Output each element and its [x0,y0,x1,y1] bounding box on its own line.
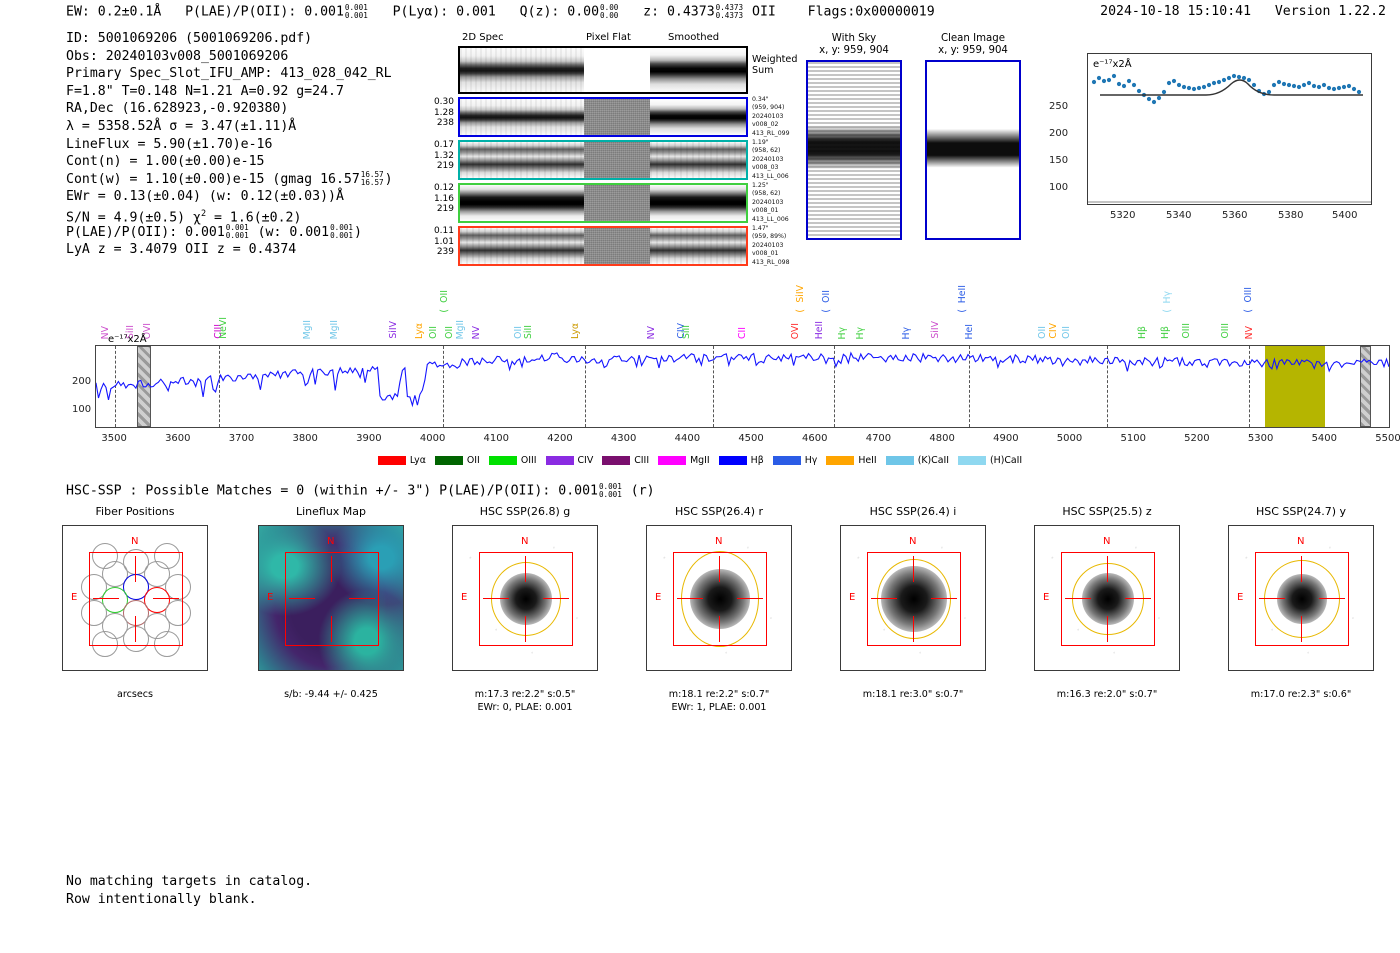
crosshair-left-2 [483,598,509,599]
info-lambda-sigma: λ = 5358.52Å σ = 3.47(±1.11)Å [66,118,393,136]
main-spectrum-trace [96,346,1389,427]
compass-east-0: E [71,592,77,603]
compass-north-5: N [1103,536,1110,547]
info-cont-w: Cont(w) = 1.10(±0.00)e-15 (gmag 16.5716.… [66,171,393,189]
compass-north-3: N [715,536,722,547]
info-radec: RA,Dec (16.628923,-0.920380) [66,100,393,118]
line-label-oii-24: OII [822,290,831,303]
crosshair-bottom-0 [135,616,136,642]
legend-item-oiii: OIII [489,455,537,466]
legend-item-kcaii: (K)CaII [886,455,949,466]
header-plae-poii: P(LAE)/P(OII): 0.001 [185,5,344,20]
header-summary-line: EW: 0.2±0.1Å P(LAE)/P(OII): 0.0010.0010.… [66,4,935,20]
spec2d-row-3-note: 1.25"(958, 62) 20240103v008_01 413_LL_00… [752,182,789,224]
header-qz: Q(z): 0.00 [520,5,599,20]
cutout-caption-6: m:17.0 re:2.3" s:0.6" [1208,689,1394,702]
info-plae-w-errors: 0.0010.001 [330,224,353,239]
cutout-panel-4[interactable]: HSC SSP(26.4) iNE420-2-4-4-2024m:18.1 re… [820,505,1006,702]
main-xtick-3700: 3700 [229,433,254,444]
main-xtick-4900: 4900 [993,433,1018,444]
legend-item-h: Hγ [773,455,818,466]
cutout-caption-1: s/b: -9.44 +/- 0.425 [238,689,424,702]
main-xtick-3500: 3500 [101,433,126,444]
zoom-spectrum-svg [1088,54,1371,204]
info-sn-chi2: S/N = 4.9(±0.5) χ2 = 1.6(±0.2) [66,206,393,224]
legend-label-8: HeII [858,455,876,466]
legend-label-4: CIII [634,455,649,466]
crosshair-left-4 [871,598,897,599]
legend-label-9: (K)CaII [918,455,949,466]
zoom-xtick-5360: 5360 [1222,210,1247,221]
main-xtick-4800: 4800 [929,433,954,444]
header-qz-errors: 0.000.00 [600,4,618,19]
line-label-oiii-38: OIII [1221,323,1230,339]
line-label-mgii-6: MgII [330,320,339,339]
header-z: z: 0.4373 [643,5,714,20]
crosshair-left-0 [93,598,119,599]
spec2d-row-1-note: 0.34"(959, 904) 20240103v008_02 413_RL_0… [752,96,790,138]
main-units-label: e⁻¹⁷x2Å [108,334,147,345]
with-sky-image [808,62,900,238]
spec2d-row-3-values: 0.12 1.16 219 [410,183,454,215]
line-label-civ-32: CIV [1049,323,1058,339]
header-plya: P(Lyα): 0.001 [393,5,496,20]
cutout-panel-0[interactable]: Fiber PositionsNE420-2-4-4-2024arcsecs [42,505,228,702]
cutout-panel-1[interactable]: Lineflux MapNE420-2-4-4-2024s/b: -9.44 +… [238,505,424,702]
spec2d-col-title-pixelflat: Pixel Flat [586,32,631,43]
main-ytick-100: 100 [72,404,91,415]
clean-image-coords: x, y: 959, 904 [925,45,1021,57]
legend-swatch-8 [826,456,854,465]
spec2d-row-2-note: 1.19"(958, 62) 20240103v008_03 413_LL_00… [752,139,789,181]
legend-label-2: OIII [521,455,537,466]
compass-east-6: E [1237,592,1243,603]
cutout-axes-4[interactable]: NE420-2-4-4-2024 [840,525,986,671]
cutout-caption-2: m:17.3 re:2.2" s:0.5" [432,689,618,702]
line-label-oii-31: OII [1038,326,1047,339]
line-label-oii-14: OII [514,326,523,339]
cutout-title-0: Fiber Positions [42,505,228,521]
cutout-title-1: Lineflux Map [238,505,424,521]
spec2d-row-1[interactable] [458,97,748,137]
zoom-xtick-5400: 5400 [1332,210,1357,221]
line-bracket-36: ( [1163,309,1172,313]
compass-north-2: N [521,536,528,547]
line-label-lyα-8: Lyα [415,323,424,339]
cutout-row: Fiber PositionsNE420-2-4-4-2024arcsecsLi… [0,505,1400,735]
crosshair-top-6 [1301,556,1302,582]
cutout-panel-3[interactable]: HSC SSP(26.4) rNE420-2-4-4-2024m:18.1 re… [626,505,812,714]
crosshair-top-0 [135,556,136,582]
legend-swatch-3 [546,456,574,465]
main-xtick-5000: 5000 [1057,433,1082,444]
line-label-lyα-16: Lyα [571,323,580,339]
cutout-caption2-2: EWr: 0, PLAE: 0.001 [432,702,618,715]
line-label-siiv-7: SiIV [389,321,398,339]
main-spectrum-axes[interactable] [95,345,1390,428]
hsc-plae-errors: 0.0010.001 [599,483,622,498]
crosshair-top-4 [913,556,914,582]
crosshair-bottom-3 [719,616,720,642]
line-label-nv-13: NV [472,326,481,339]
compass-north-4: N [909,536,916,547]
cutout-caption2-3: EWr: 1, PLAE: 0.001 [626,702,812,715]
crosshair-right-2 [543,598,569,599]
legend-item-mgii: MgII [658,455,710,466]
cutout-title-3: HSC SSP(26.4) r [626,505,812,521]
crosshair-right-5 [1125,598,1151,599]
crosshair-top-3 [719,556,720,582]
spec2d-col-title-2dspec: 2D Spec [462,32,504,43]
clean-image-title: Clean Image [925,33,1021,45]
compass-east-2: E [461,592,467,603]
legend-label-3: CIV [578,455,594,466]
compass-north-6: N [1297,536,1304,547]
cutout-panel-6[interactable]: HSC SSP(24.7) yNE420-2-4-4-2024m:17.0 re… [1208,505,1394,702]
crosshair-left-1 [289,598,315,599]
with-sky-panel[interactable]: With Sky x, y: 959, 904 [806,33,902,240]
info-primary-spec: Primary Spec_Slot_IFU_AMP: 413_028_042_R… [66,65,393,83]
zoom-ytick-50 [1056,208,1059,219]
legend-label-1: OII [467,455,480,466]
crosshair-right-4 [931,598,957,599]
header-datetime: 2024-10-18 15:10:41 [1100,4,1251,19]
hsc-ssp-header: HSC-SSP : Possible Matches = 0 (within +… [66,483,655,499]
clean-image-image [927,62,1019,238]
cutout-axes-2[interactable]: NE420-2-4-4-2024 [452,525,598,671]
line-label-oii-10: OII [440,290,449,303]
line-label-hβ-35: Hβ [1161,326,1170,339]
line-label-hγ-25: Hγ [838,327,847,340]
line-label-heii-29: HeII [958,285,967,303]
legend-swatch-0 [378,456,406,465]
line-label-hei-30: HeI [965,324,974,339]
crosshair-bottom-1 [331,616,332,642]
compass-east-3: E [655,592,661,603]
spec2d-row-weighted-sum[interactable] [458,46,748,94]
zoom-ytick-250: 250 [1049,101,1068,112]
legend-label-7: Hγ [805,455,818,466]
legend-swatch-9 [886,456,914,465]
header-plae-poii-errors: 0.0010.001 [345,4,368,19]
info-plae: P(LAE)/P(OII): 0.0010.0010.001 (w: 0.001… [66,224,393,242]
header-right-meta: 2024-10-18 15:10:41 Version 1.22.2 [1100,4,1386,19]
crosshair-top-1 [331,556,332,582]
compass-east-5: E [1043,592,1049,603]
zoom-ytick-200: 200 [1049,128,1068,139]
zoom-xtick-5320: 5320 [1110,210,1135,221]
main-xtick-5300: 5300 [1248,433,1273,444]
line-label-oii-9: OII [429,326,438,339]
line-label-siiv-28: SiIV [931,321,940,339]
legend-item-oii: OII [435,455,480,466]
footer-line-1: No matching targets in catalog. [66,873,312,891]
spec2d-row-3[interactable] [458,183,748,223]
main-xtick-4300: 4300 [611,433,636,444]
line-label-siii-19: SiII [682,325,691,339]
main-xtick-4200: 4200 [547,433,572,444]
header-z-species: OII [752,5,776,20]
cutout-title-6: HSC SSP(24.7) y [1208,505,1394,521]
with-sky-title: With Sky [806,33,902,45]
zoom-ytick-150: 150 [1049,155,1068,166]
line-bracket-22: ( [796,309,805,313]
legend-label-0: Lyα [410,455,426,466]
line-bracket-10: ( [440,309,449,313]
line-bracket-39: ( [1244,309,1253,313]
line-label-nv-17: NV [647,326,656,339]
main-xtick-4100: 4100 [484,433,509,444]
spec2d-row-1-values: 0.30 1.28 238 [410,97,454,129]
main-xtick-3900: 3900 [356,433,381,444]
info-plae-errors: 0.0010.001 [226,224,249,239]
line-label-hγ-27: Hγ [902,327,911,340]
crosshair-left-6 [1259,598,1285,599]
with-sky-coords: x, y: 959, 904 [806,45,902,57]
object-info-block: ID: 5001069206 (5001069206.pdf) Obs: 202… [66,30,393,259]
legend-swatch-2 [489,456,517,465]
cutout-title-2: HSC SSP(26.8) g [432,505,618,521]
cutout-axes-3[interactable]: NE420-2-4-4-2024 [646,525,792,671]
line-label-ovi-21: OVI [791,323,800,339]
header-version: Version 1.22.2 [1275,4,1386,19]
cutout-axes-6[interactable]: NE420-2-4-4-2024 [1228,525,1374,671]
line-bracket-24: ( [822,309,831,313]
main-xtick-5200: 5200 [1184,433,1209,444]
legend-label-5: MgII [690,455,710,466]
crosshair-left-5 [1065,598,1091,599]
main-xtick-4700: 4700 [866,433,891,444]
crosshair-bottom-4 [913,616,914,642]
main-xtick-3800: 3800 [292,433,317,444]
crosshair-bottom-5 [1107,616,1108,642]
line-label-nevi-4: NeVI [219,317,228,339]
spec2d-col-title-smoothed: Smoothed [668,32,719,43]
legend-item-hcaii: (H)CaII [958,455,1022,466]
cutout-axes-0[interactable]: NE420-2-4-4-2024 [62,525,208,671]
main-xtick-5500: 5500 [1375,433,1400,444]
compass-east-4: E [849,592,855,603]
legend-label-6: Hβ [751,455,764,466]
line-label-hγ-36: Hγ [1163,291,1172,304]
compass-north-0: N [131,536,138,547]
spec2d-row-4-note: 1.47"(959, 89%) 20240103v008_01 413_RL_0… [752,225,790,267]
legend-item-h: Hβ [719,455,764,466]
header-z-errors: 0.43730.4373 [716,4,743,19]
crosshair-right-0 [153,598,179,599]
main-xtick-3600: 3600 [165,433,190,444]
main-xtick-5100: 5100 [1120,433,1145,444]
crosshair-right-1 [349,598,375,599]
cutout-title-4: HSC SSP(26.4) i [820,505,1006,521]
crosshair-top-5 [1107,556,1108,582]
legend-swatch-10 [958,456,986,465]
compass-north-1: N [327,536,334,547]
line-label-oiii-37: OIII [1182,323,1191,339]
info-ewr: EWr = 0.13(±0.04) (w: 0.12(±0.03))Å [66,188,393,206]
legend-swatch-7 [773,456,801,465]
cutout-caption-5: m:16.3 re:2.0" s:0.7" [1014,689,1200,702]
footer-line-2: Row intentionally blank. [66,891,312,909]
main-xtick-4500: 4500 [738,433,763,444]
crosshair-right-6 [1319,598,1345,599]
main-xtick-4600: 4600 [802,433,827,444]
crosshair-bottom-6 [1301,616,1302,642]
line-bracket-29: ( [958,309,967,313]
spec2d-row-2-values: 0.17 1.32 219 [410,140,454,172]
line-label-heii-23: HeII [815,321,824,339]
cutout-panel-2[interactable]: HSC SSP(26.8) gNE420-2-4-4-2024m:17.3 re… [432,505,618,714]
cutout-caption-0: arcsecs [42,689,228,702]
cutout-caption-3: m:18.1 re:2.2" s:0.7" [626,689,812,702]
legend-swatch-6 [719,456,747,465]
legend-swatch-5 [658,456,686,465]
legend-label-10: (H)CaII [990,455,1022,466]
cutout-axes-5[interactable]: NE420-2-4-4-2024 [1034,525,1180,671]
info-fit-params: F=1.8" T=0.148 N=1.21 A=0.92 g=24.7 [66,83,393,101]
zoom-xtick-5380: 5380 [1278,210,1303,221]
cutout-axes-1[interactable]: NE420-2-4-4-2024 [258,525,404,671]
crosshair-right-3 [737,598,763,599]
spec2d-panel-group: 2D Spec Pixel Flat Smoothed Weighted Sum… [440,32,800,252]
line-label-siii-15: SiII [524,325,533,339]
line-label-hγ-26: Hγ [856,327,865,340]
header-flags: Flags:0x00000019 [808,5,935,20]
line-label-nv-40: NV [1245,326,1254,339]
main-xtick-5400: 5400 [1312,433,1337,444]
spectrum-legend: LyαOIIOIIICIVCIIIMgIIHβHγHeII(K)CaII(H)C… [0,455,1400,466]
spec2d-row-4-values: 0.11 1.01 239 [410,226,454,258]
info-redshifts: LyA z = 3.4079 OII z = 0.4374 [66,241,393,259]
info-obs: Obs: 20240103v008_5001069206 [66,48,393,66]
legend-item-heii: HeII [826,455,876,466]
legend-swatch-1 [435,456,463,465]
main-xtick-4000: 4000 [420,433,445,444]
main-spectrum-panel[interactable]: NV(SiII(OVI(CIII(NeVI(MgII(MgII(SiIV(Lyα… [0,262,1400,477]
main-xtick-4400: 4400 [675,433,700,444]
clean-image-panel[interactable]: Clean Image x, y: 959, 904 [925,33,1021,240]
crosshair-top-2 [525,556,526,582]
spec2d-weighted-sum-label: Weighted Sum [752,54,797,76]
line-label-cii-20: CII [738,327,747,339]
spec2d-row-4[interactable] [458,226,748,266]
line-label-oiii-39: OIII [1244,287,1253,303]
zoom-ytick-100: 100 [1049,182,1068,193]
header-ew: EW: 0.2±0.1Å [66,5,161,20]
line-label-siiv-22: SiIV [796,285,805,303]
legend-item-ciii: CIII [602,455,649,466]
legend-swatch-4 [602,456,630,465]
crosshair-left-3 [677,598,703,599]
crosshair-bottom-2 [525,616,526,642]
footer-note: No matching targets in catalog. Row inte… [66,873,312,908]
zoom-spectrum-plot[interactable]: 250 200 150 100 5320 5340 5360 5380 5400… [1035,45,1380,245]
main-ytick-200: 200 [72,376,91,387]
zoom-xtick-5340: 5340 [1166,210,1191,221]
spec2d-row-2[interactable] [458,140,748,180]
cutout-panel-5[interactable]: HSC SSP(25.5) zNE420-2-4-4-2024m:16.3 re… [1014,505,1200,702]
legend-item-ly: Lyα [378,455,426,466]
line-label-oii-33: OII [1062,326,1071,339]
cutout-caption-4: m:18.1 re:3.0" s:0.7" [820,689,1006,702]
info-lineflux: LineFlux = 5.90(±1.70)e-16 [66,136,393,154]
line-label-mgii-12: MgII [456,320,465,339]
line-label-mgii-5: MgII [303,320,312,339]
info-id: ID: 5001069206 (5001069206.pdf) [66,30,393,48]
info-gmag-errors: 16.5716.57 [361,171,384,186]
compass-east-1: E [267,592,273,603]
info-cont-n: Cont(n) = 1.00(±0.00)e-15 [66,153,393,171]
cutout-title-5: HSC SSP(25.5) z [1014,505,1200,521]
line-label-oii-11: OII [445,326,454,339]
legend-item-civ: CIV [546,455,594,466]
line-label-hβ-34: Hβ [1138,326,1147,339]
